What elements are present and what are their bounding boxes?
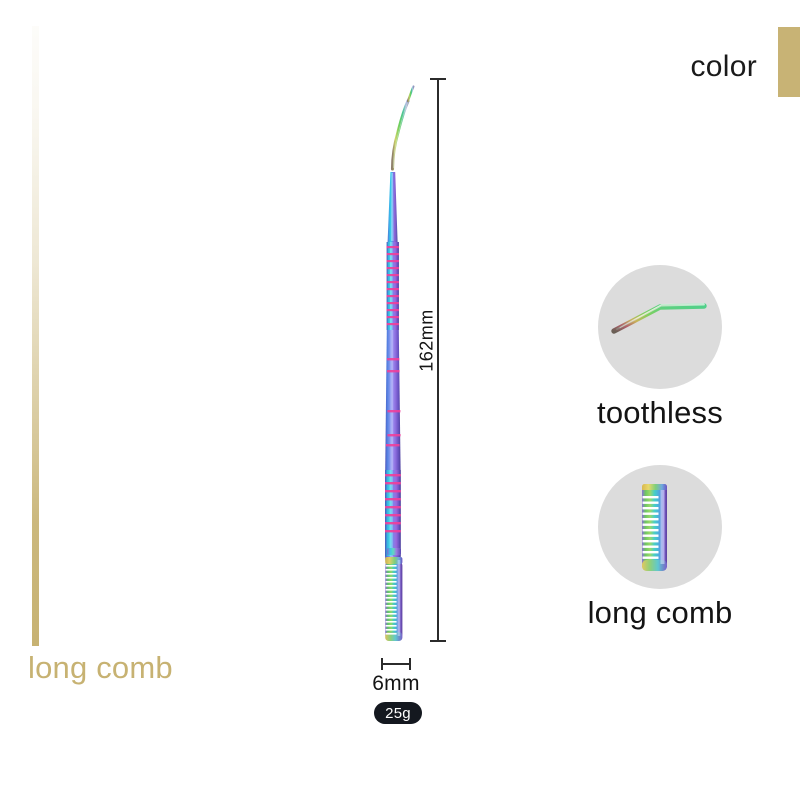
feature-callout-long-comb: long comb [598, 465, 722, 589]
dimension-bar [381, 663, 411, 665]
feature-label: long comb [588, 595, 733, 631]
feature-label: toothless [597, 395, 723, 431]
comb-head-icon [598, 465, 722, 589]
dimension-cap-top [430, 78, 446, 80]
feature-disc [598, 465, 722, 589]
feature-callout-toothless: toothless [598, 265, 722, 389]
width-dimension-line [381, 658, 411, 670]
dimension-cap-left [381, 658, 383, 670]
feature-disc [598, 265, 722, 389]
gold-accent-rule [32, 26, 39, 646]
dimension-cap-bottom [430, 640, 446, 642]
dimension-cap-right [409, 658, 411, 670]
length-dimension-label: 162mm [417, 309, 438, 372]
color-swatch [778, 27, 800, 97]
bent-tip-icon [598, 265, 722, 389]
infographic-canvas: long comb color [0, 0, 800, 800]
width-dimension-label: 6mm [340, 672, 452, 696]
weight-badge: 25g [374, 702, 422, 724]
product-caption: long comb [28, 650, 173, 686]
color-label: color [690, 50, 757, 84]
